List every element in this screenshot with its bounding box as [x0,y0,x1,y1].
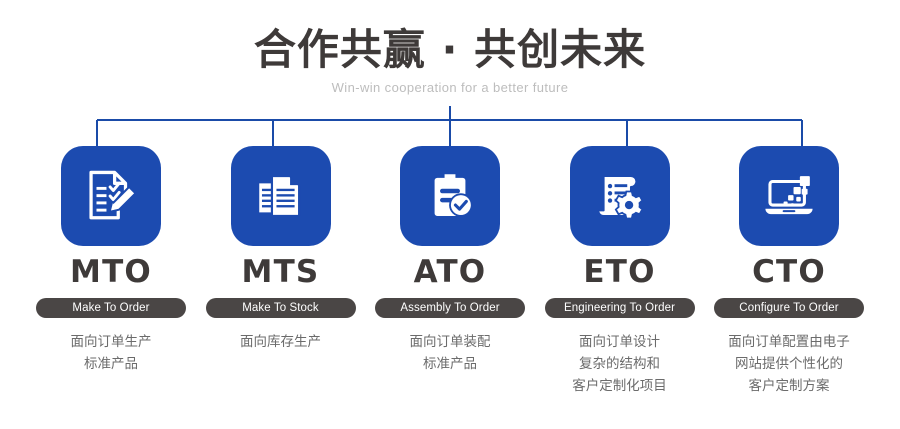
desc-line: 面向订单设计 [537,331,702,353]
acronym-eto: ETO [583,257,655,288]
desc-line: 客户定制化项目 [537,375,702,397]
infographic-page: 合作共赢 · 共创未来 Win-win cooperation for a be… [0,0,900,429]
pill-mts: Make To Stock [206,298,356,318]
desc-cto: 面向订单配置由电子 网站提供个性化的 客户定制方案 [707,331,872,397]
laptop-blocks-icon [760,167,818,225]
icon-tile-mto[interactable] [61,146,161,246]
pill-cto: Configure To Order [714,298,864,318]
card-eto[interactable]: ETO Engineering To Order 面向订单设计 复杂的结构和 客… [545,146,695,397]
pill-ato: Assembly To Order [375,298,525,318]
icon-tile-ato[interactable] [400,146,500,246]
desc-line: 网站提供个性化的 [707,353,872,375]
desc-ato: 面向订单装配 标准产品 [368,331,533,375]
desc-eto: 面向订单设计 复杂的结构和 客户定制化项目 [537,331,702,397]
pill-mto: Make To Order [36,298,186,318]
header: 合作共赢 · 共创未来 Win-win cooperation for a be… [0,0,900,95]
icon-tile-mts[interactable] [231,146,331,246]
desc-line: 面向订单装配 [368,331,533,353]
icon-tile-eto[interactable] [570,146,670,246]
acronym-ato: ATO [414,257,487,288]
page-subtitle: Win-win cooperation for a better future [0,80,900,95]
clipboard-check-icon [421,167,479,225]
desc-line: 客户定制方案 [707,375,872,397]
scroll-gear-icon [591,167,649,225]
card-cto[interactable]: CTO Configure To Order 面向订单配置由电子 网站提供个性化… [714,146,864,397]
card-row: MTO Make To Order 面向订单生产 标准产品 [0,146,900,397]
card-ato[interactable]: ATO Assembly To Order 面向订单装配 标准产品 [375,146,525,397]
desc-line: 面向订单生产 [29,331,194,353]
acronym-mto: MTO [70,257,152,288]
desc-mto: 面向订单生产 标准产品 [29,331,194,375]
acronym-mts: MTS [242,257,320,288]
desc-line: 复杂的结构和 [537,353,702,375]
card-mts[interactable]: MTS Make To Stock 面向库存生产 [206,146,356,397]
acronym-cto: CTO [752,257,826,288]
desc-mts: 面向库存生产 [198,331,363,353]
desc-line: 标准产品 [29,353,194,375]
page-title: 合作共赢 · 共创未来 [0,26,900,73]
pill-eto: Engineering To Order [545,298,695,318]
card-mto[interactable]: MTO Make To Order 面向订单生产 标准产品 [36,146,186,397]
desc-line: 标准产品 [368,353,533,375]
stacked-documents-icon [252,167,310,225]
desc-line: 面向库存生产 [198,331,363,353]
desc-line: 面向订单配置由电子 [707,331,872,353]
icon-tile-cto[interactable] [739,146,839,246]
document-checklist-pencil-icon [82,167,140,225]
